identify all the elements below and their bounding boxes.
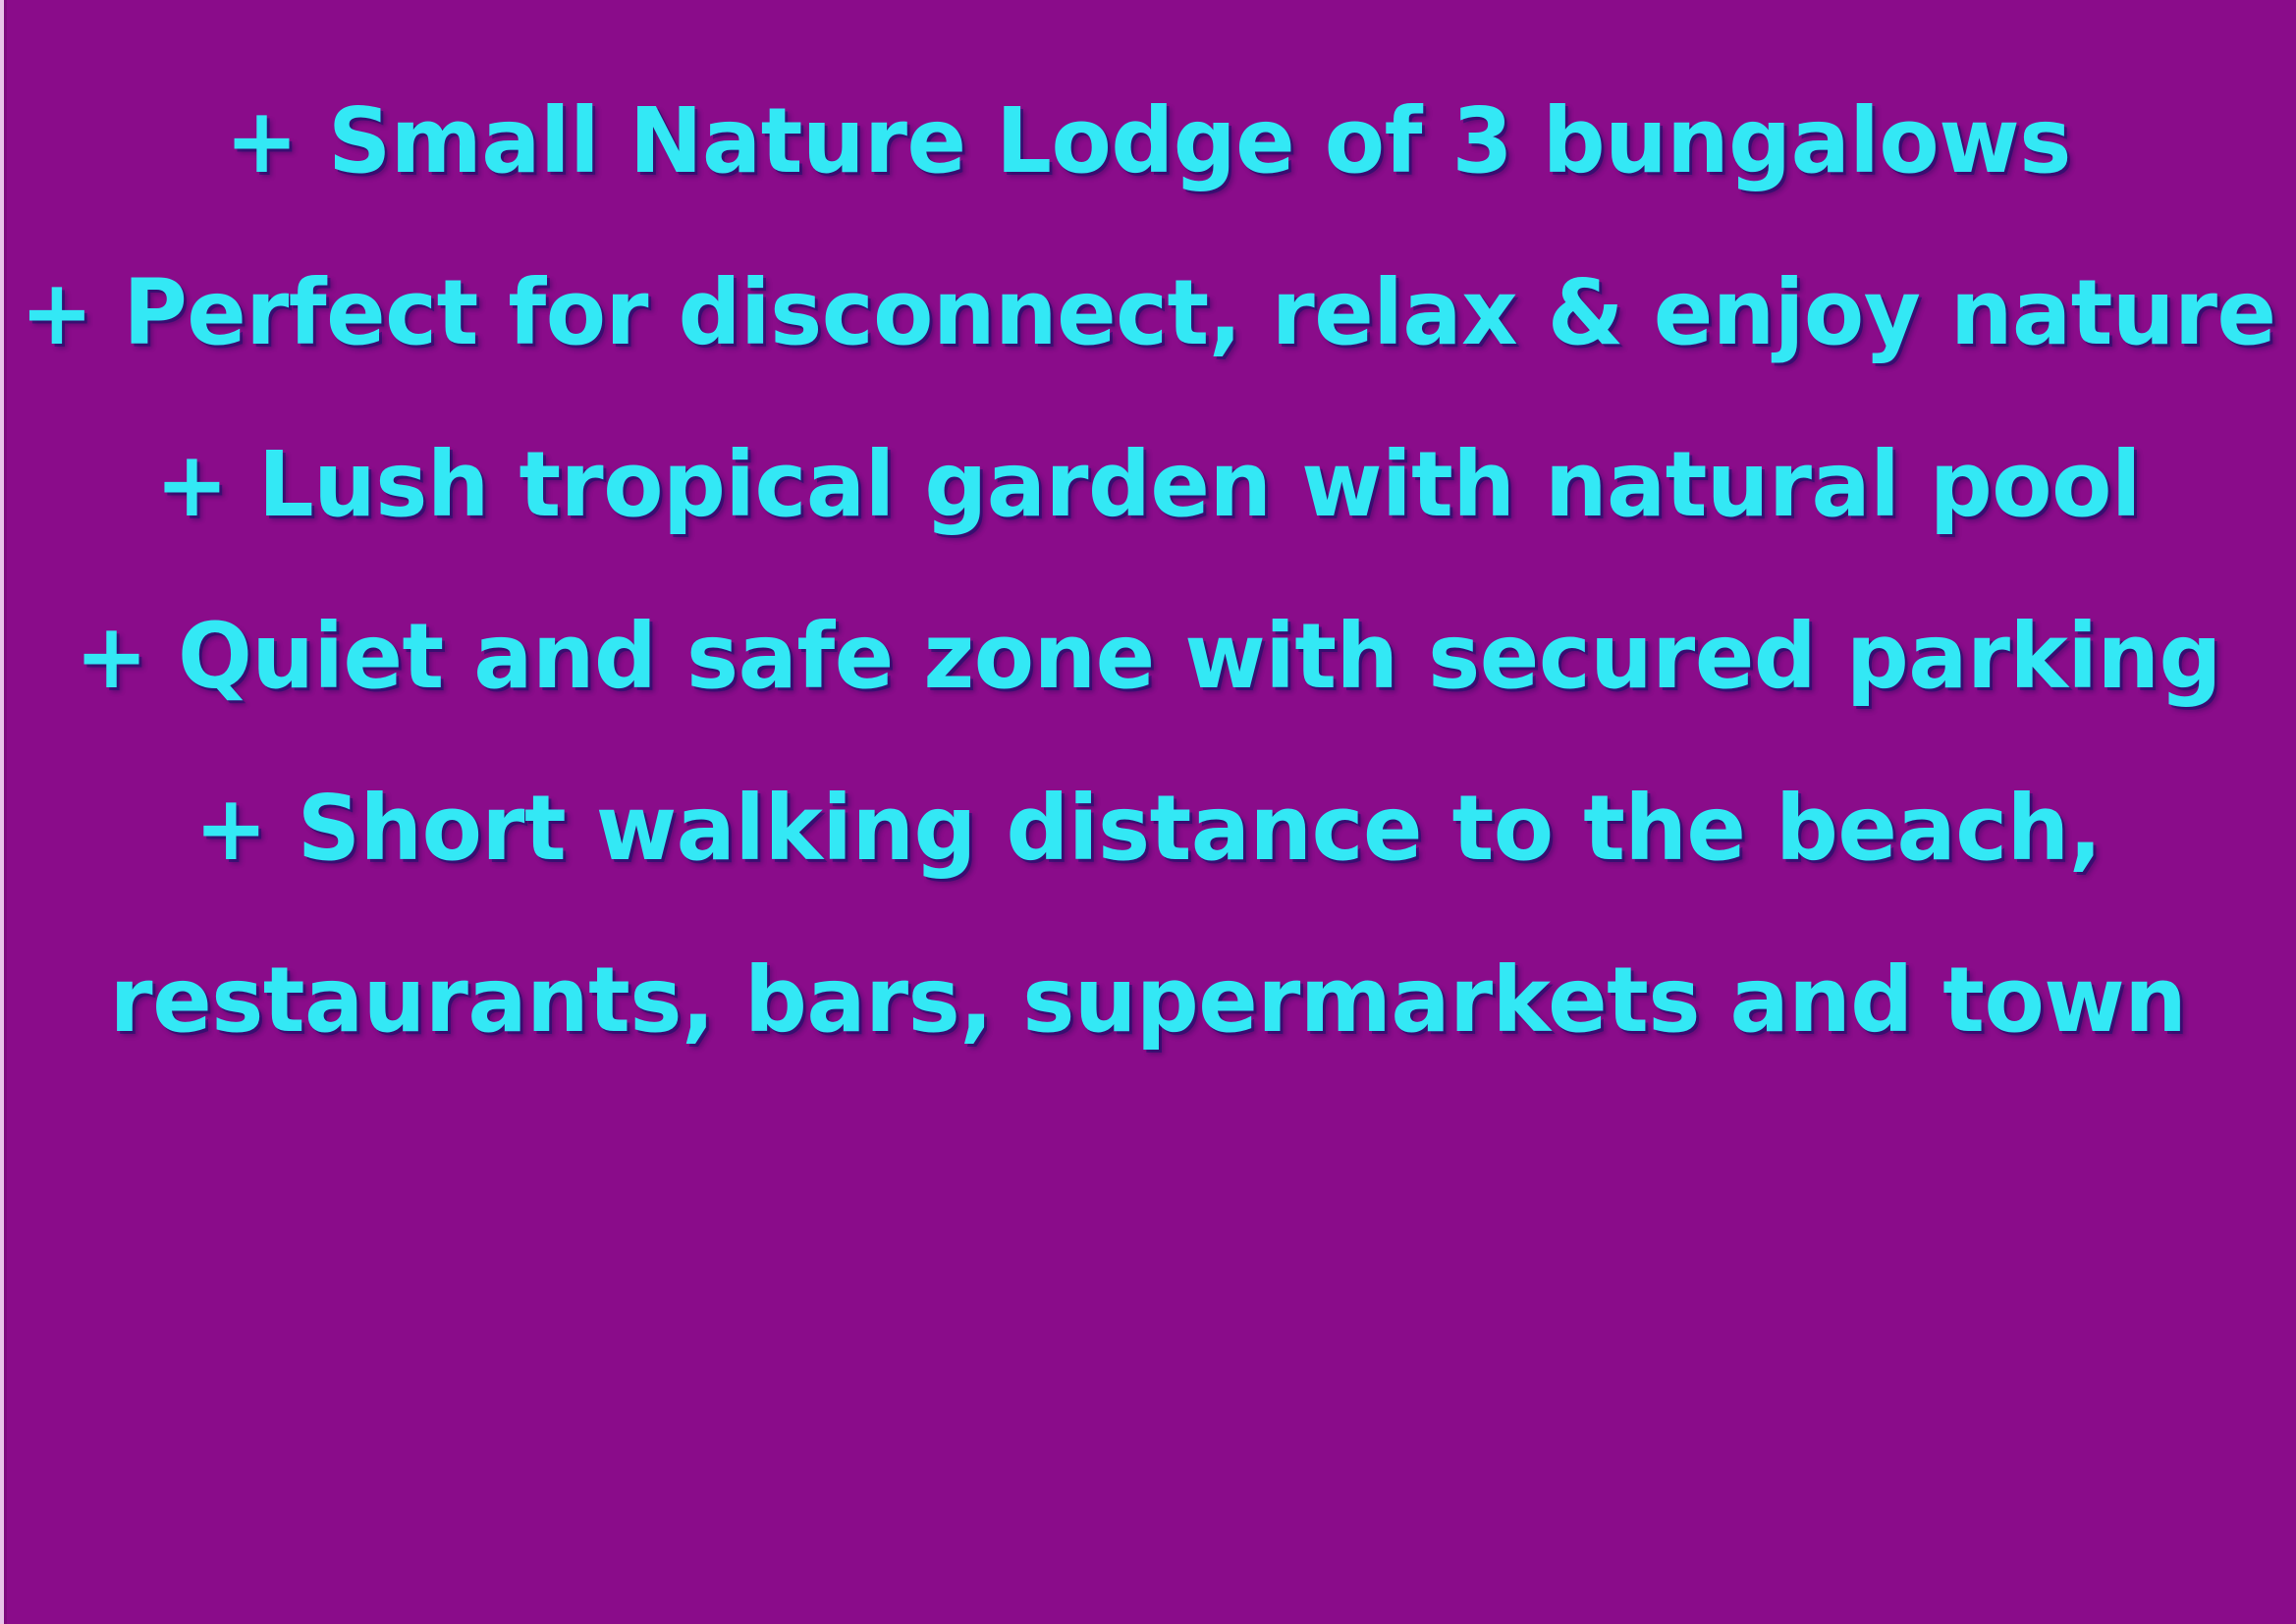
feature-line-3: + Lush tropical garden with natural pool: [34, 399, 2262, 570]
feature-list: + Small Nature Lodge of 3 bungalows + Pe…: [0, 0, 2296, 1624]
feature-line-6: restaurants, bars, supermarkets and town: [34, 914, 2262, 1086]
promo-slide: + Small Nature Lodge of 3 bungalows + Pe…: [0, 0, 2296, 1624]
feature-line-2: + Perfect for disconnect, relax & enjoy …: [34, 227, 2262, 399]
feature-line-1: + Small Nature Lodge of 3 bungalows: [34, 55, 2262, 227]
feature-line-5: + Short walking distance to the beach,: [34, 742, 2262, 914]
feature-line-4: + Quiet and safe zone with secured parki…: [34, 570, 2262, 742]
left-edge-strip-inner: [4, 0, 7, 1624]
